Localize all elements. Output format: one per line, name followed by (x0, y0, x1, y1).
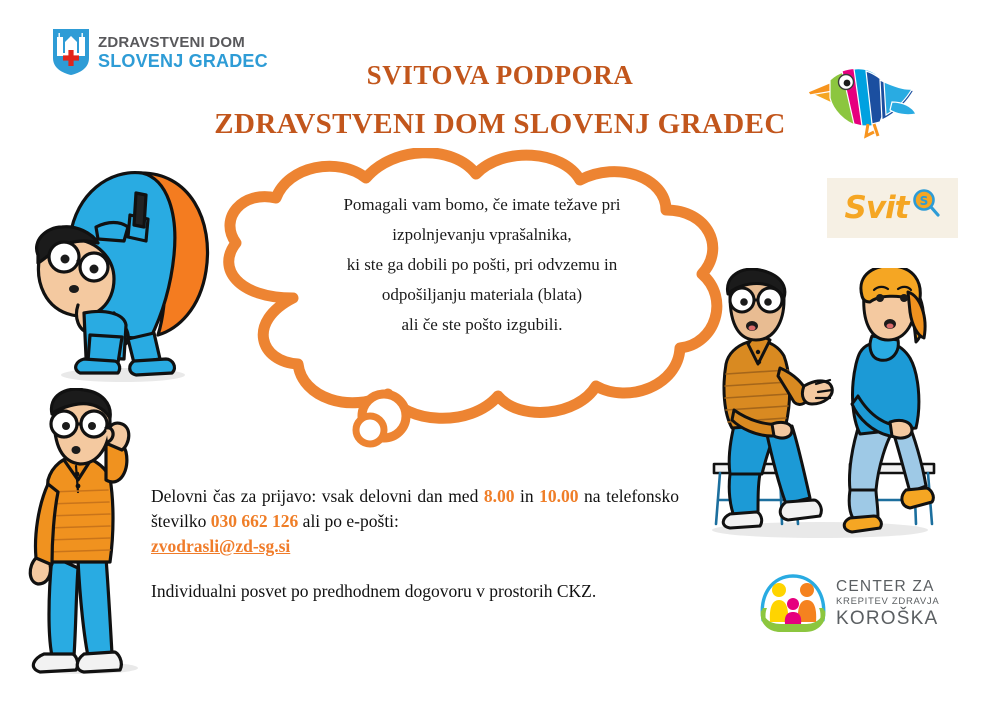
contact-information: Delovni čas za prijavo: vsak delovni dan… (151, 484, 679, 604)
illustration-man-listening (18, 388, 163, 678)
phone-number[interactable]: 030 662 126 (211, 511, 299, 531)
magnifier-icon: S (910, 188, 940, 220)
hours-mid: in (514, 486, 539, 506)
opening-hours-paragraph: Delovni čas za prijavo: vsak delovni dan… (151, 484, 679, 559)
hours-prefix: Delovni čas za prijavo: vsak delovni dan… (151, 486, 484, 506)
illustration-seated-pair (700, 268, 945, 543)
svit-program-logo: Svit S (827, 178, 958, 238)
time-from: 8.00 (484, 486, 515, 506)
ckz-line-1: CENTER ZA (836, 579, 939, 595)
ckz-line-3: KOROŠKA (836, 609, 939, 628)
cloud-line-2: izpolnjevanju vprašalnika, (286, 220, 678, 250)
svit-wordmark: Svit (845, 193, 909, 224)
cloud-line-5: ali če ste pošto izgubili. (286, 310, 678, 340)
ckz-line-2: KREPITEV ZDRAVJA (836, 597, 939, 607)
logo-line-1: ZDRAVSTVENI DOM (98, 35, 268, 50)
cloud-line-1: Pomagali vam bomo, če imate težave pri (286, 190, 678, 220)
consultation-paragraph: Individualni posvet po predhodnem dogovo… (151, 579, 679, 604)
poster-canvas: ZDRAVSTVENI DOM SLOVENJ GRADEC SVITOVA P… (0, 0, 1000, 705)
svg-text:S: S (920, 194, 929, 208)
cloud-line-4: odpošiljanju materiala (blata) (286, 280, 678, 310)
rainbow-bird-icon (806, 58, 918, 140)
cloud-message: Pomagali vam bomo, če imate težave pri i… (286, 190, 678, 340)
email-link[interactable]: zvodrasli@zd-sg.si (151, 536, 290, 556)
family-in-hands-icon (757, 570, 829, 636)
illustration-man-bending-over (18, 163, 223, 388)
ckz-koroska-logo: CENTER ZA KREPITEV ZDRAVJA KOROŠKA (757, 570, 939, 636)
cloud-line-3: ki ste ga dobili po pošti, pri odvzemu i… (286, 250, 678, 280)
hours-tail: ali po e-pošti: (298, 511, 399, 531)
time-to: 10.00 (539, 486, 578, 506)
